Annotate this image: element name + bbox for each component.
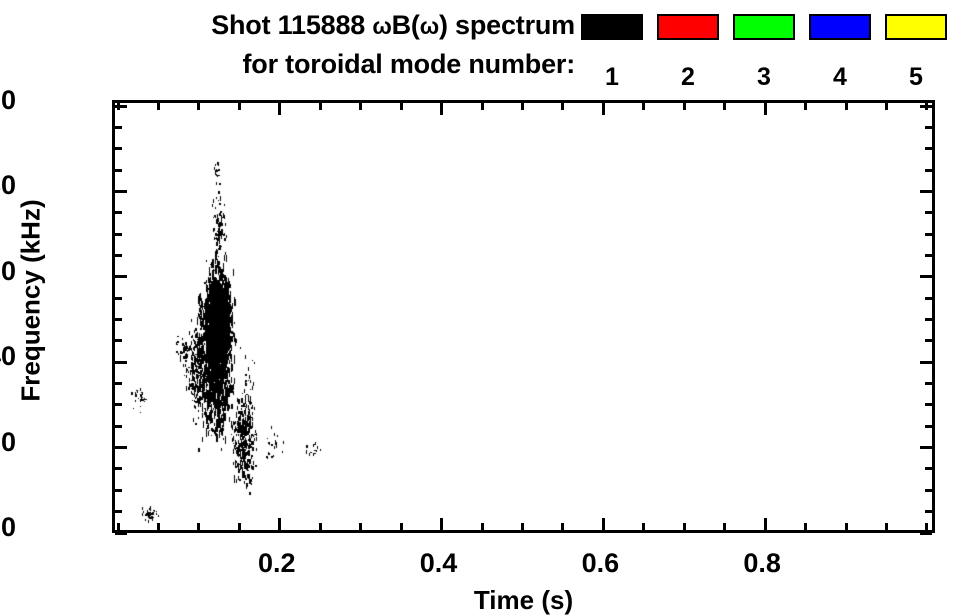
y-tick-minor — [115, 489, 122, 492]
legend-swatch-4 — [809, 14, 871, 40]
x-tick-top-minor — [521, 103, 524, 110]
y-tick-right-minor — [925, 147, 932, 150]
y-tick-minor — [115, 382, 122, 385]
y-tick-major — [115, 361, 127, 364]
y-tick-minor — [115, 403, 122, 406]
legend-swatch-5 — [885, 14, 947, 40]
figure-title: Shot 115888 ωB(ω) spectrum for toroidal … — [0, 6, 575, 83]
x-tick-minor — [157, 523, 160, 530]
x-tick-top-minor — [642, 103, 645, 110]
x-tick-minor — [845, 523, 848, 530]
title-line-1-prefix: Shot 115888 — [211, 10, 372, 40]
x-tick-minor — [561, 523, 564, 530]
x-axis-title: Time (s) — [112, 585, 935, 615]
title-line-1-mid: B( — [392, 10, 420, 40]
y-tick-right-minor — [925, 297, 932, 300]
x-tick-label: 0.8 — [712, 548, 812, 579]
x-tick-minor — [197, 523, 200, 530]
x-tick-top-major — [278, 103, 281, 115]
legend-label-2: 2 — [655, 63, 721, 92]
plot-frame — [112, 100, 935, 533]
y-tick-label: 20 — [0, 427, 16, 458]
x-tick-minor — [723, 523, 726, 530]
x-tick-major — [602, 518, 605, 530]
legend-swatch-2 — [657, 14, 719, 40]
x-tick-major — [440, 518, 443, 530]
x-tick-label: 0.4 — [389, 548, 489, 579]
y-tick-right-major — [920, 275, 932, 278]
x-tick-top-minor — [561, 103, 564, 110]
x-tick-top-minor — [400, 103, 403, 110]
y-tick-major — [115, 275, 127, 278]
x-tick-top-minor — [683, 103, 686, 110]
x-tick-minor — [117, 523, 120, 530]
y-tick-right-minor — [925, 510, 932, 513]
x-tick-top-minor — [319, 103, 322, 110]
y-tick-right-minor — [925, 489, 932, 492]
x-tick-minor — [885, 523, 888, 530]
x-tick-minor — [521, 523, 524, 530]
y-tick-minor — [115, 339, 122, 342]
y-tick-right-minor — [925, 318, 932, 321]
x-tick-top-minor — [925, 103, 928, 110]
x-tick-minor — [804, 523, 807, 530]
legend-label-3: 3 — [731, 63, 797, 92]
legend-swatch-3 — [733, 14, 795, 40]
y-tick-label: 0 — [0, 512, 16, 543]
y-tick-minor — [115, 318, 122, 321]
x-tick-label: 0.6 — [550, 548, 650, 579]
x-tick-minor — [925, 523, 928, 530]
x-tick-major — [764, 518, 767, 530]
y-tick-right-minor — [925, 403, 932, 406]
y-tick-minor — [115, 510, 122, 513]
title-line-1-suffix: ) spectrum — [439, 10, 575, 40]
x-tick-minor — [481, 523, 484, 530]
y-tick-minor — [115, 467, 122, 470]
y-tick-label: 40 — [0, 341, 16, 372]
y-tick-minor — [115, 147, 122, 150]
y-tick-right-minor — [925, 339, 932, 342]
y-tick-right-minor — [925, 211, 932, 214]
y-tick-minor — [115, 425, 122, 428]
spectrogram-figure: Shot 115888 ωB(ω) spectrum for toroidal … — [0, 0, 963, 615]
title-line-2: for toroidal mode number: — [0, 45, 575, 83]
y-tick-major — [115, 446, 127, 449]
y-tick-minor — [115, 233, 122, 236]
legend-label-1: 1 — [579, 63, 645, 92]
x-tick-minor — [683, 523, 686, 530]
y-tick-minor — [115, 126, 122, 129]
x-tick-top-minor — [845, 103, 848, 110]
y-tick-right-minor — [925, 467, 932, 470]
y-tick-right-minor — [925, 382, 932, 385]
legend-label-5: 5 — [883, 63, 949, 92]
x-tick-major — [278, 518, 281, 530]
y-tick-label: 100 — [0, 85, 16, 116]
x-tick-minor — [642, 523, 645, 530]
x-tick-top-minor — [723, 103, 726, 110]
plot-canvas-wrap — [115, 103, 932, 530]
y-tick-label: 80 — [0, 170, 16, 201]
x-tick-top-minor — [238, 103, 241, 110]
title-line-1: Shot 115888 ωB(ω) spectrum — [0, 6, 575, 45]
x-tick-top-minor — [481, 103, 484, 110]
x-tick-minor — [400, 523, 403, 530]
x-tick-minor — [238, 523, 241, 530]
y-tick-minor — [115, 254, 122, 257]
y-tick-right-minor — [925, 169, 932, 172]
x-tick-top-major — [602, 103, 605, 115]
omega-symbol-1: ω — [372, 13, 391, 39]
x-tick-top-minor — [197, 103, 200, 110]
y-tick-minor — [115, 169, 122, 172]
y-tick-major — [115, 190, 127, 193]
y-tick-right-minor — [925, 254, 932, 257]
y-tick-minor — [115, 211, 122, 214]
y-tick-label: 60 — [0, 256, 16, 287]
y-tick-right-minor — [925, 233, 932, 236]
x-tick-top-major — [440, 103, 443, 115]
x-tick-minor — [359, 523, 362, 530]
x-tick-top-minor — [117, 103, 120, 110]
y-tick-right-major — [920, 190, 932, 193]
y-tick-major — [115, 532, 127, 535]
omega-symbol-2: ω — [420, 13, 439, 39]
y-axis-title: Frequency (kHz) — [16, 151, 47, 451]
legend-label-4: 4 — [807, 63, 873, 92]
y-tick-right-major — [920, 361, 932, 364]
x-tick-top-minor — [885, 103, 888, 110]
spectrogram-data-canvas — [115, 103, 932, 530]
x-tick-minor — [319, 523, 322, 530]
y-tick-right-major — [920, 446, 932, 449]
x-tick-top-minor — [157, 103, 160, 110]
legend-swatch-1 — [581, 14, 643, 40]
y-tick-right-minor — [925, 425, 932, 428]
x-tick-label: 0.2 — [227, 548, 327, 579]
x-tick-top-major — [764, 103, 767, 115]
y-tick-minor — [115, 297, 122, 300]
x-tick-top-minor — [804, 103, 807, 110]
y-tick-right-minor — [925, 126, 932, 129]
x-tick-top-minor — [359, 103, 362, 110]
y-tick-right-major — [920, 532, 932, 535]
